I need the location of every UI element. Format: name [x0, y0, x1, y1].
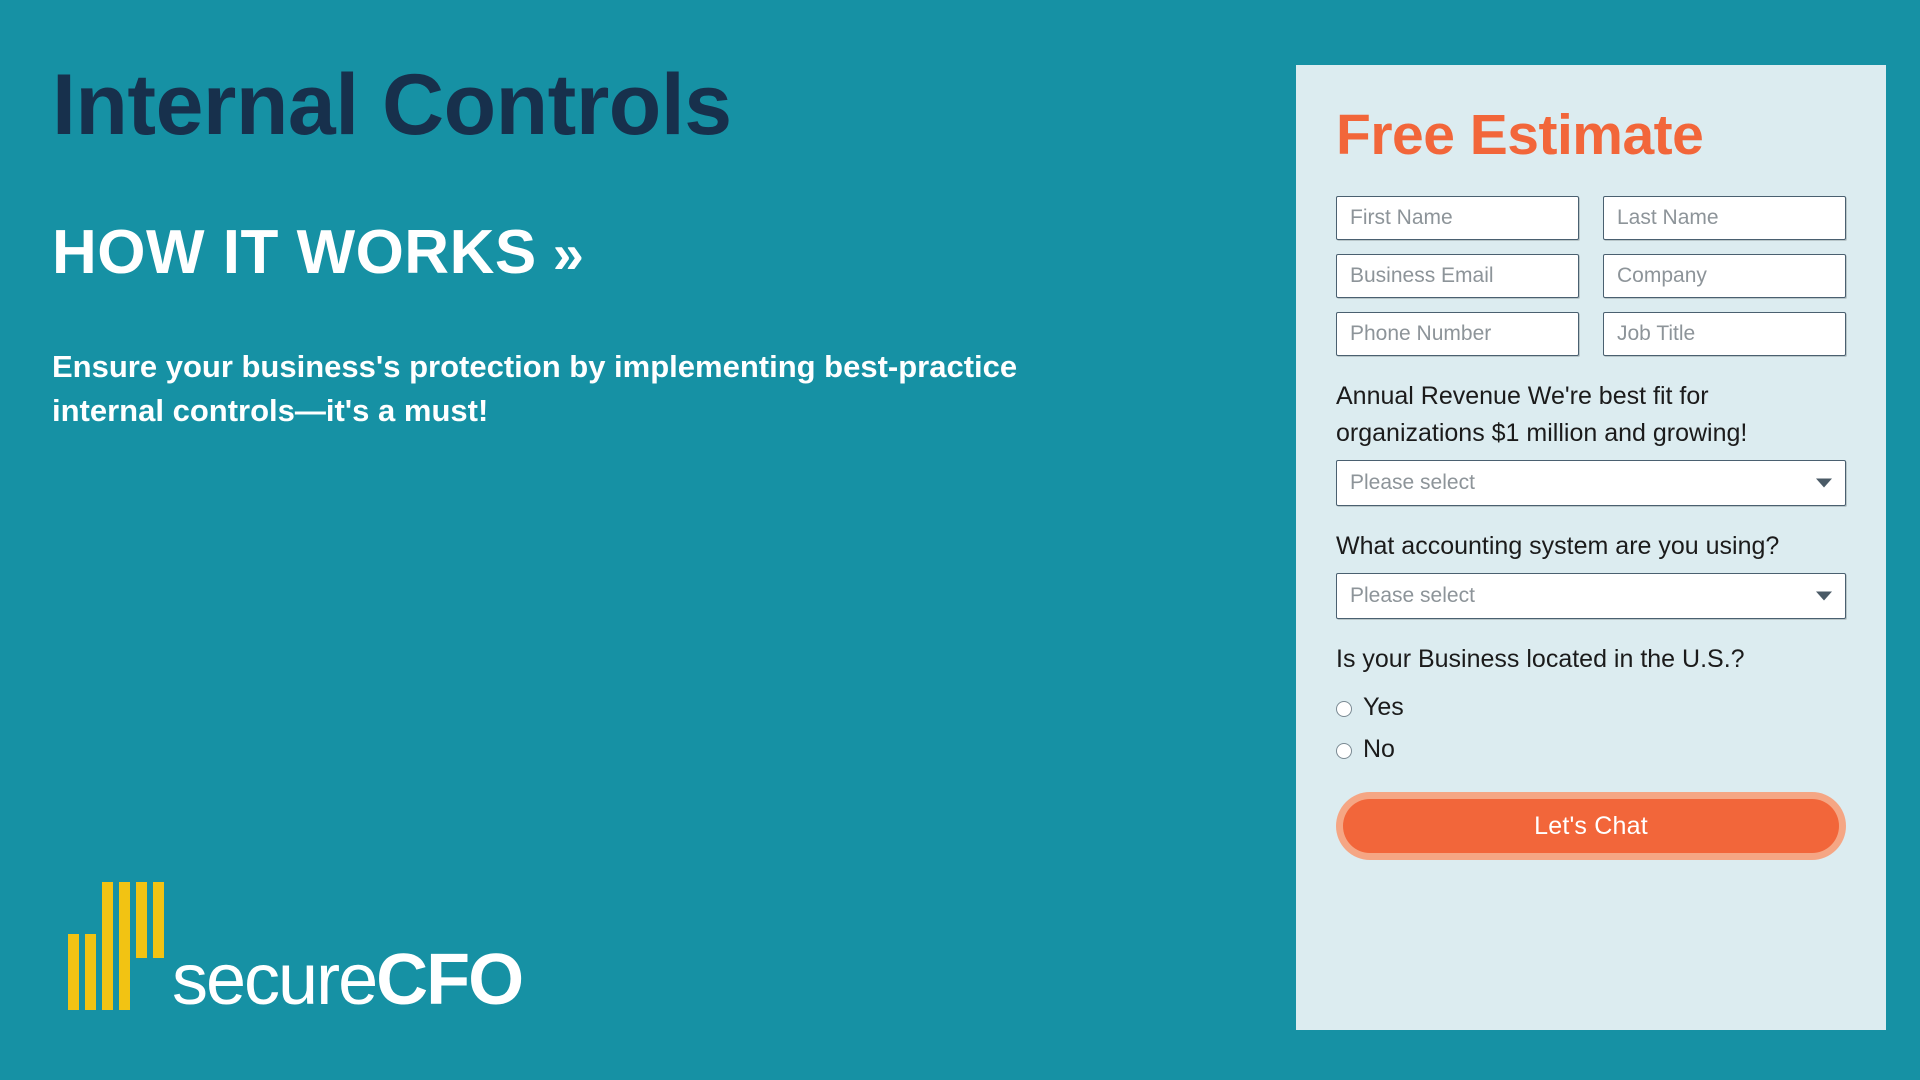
double-chevron-right-icon: »	[553, 226, 585, 282]
free-estimate-form-panel: Free Estimate Annual Revenue We're best …	[1296, 65, 1886, 1030]
business-location-label: Is your Business located in the U.S.?	[1336, 641, 1846, 678]
radio-label-yes: Yes	[1363, 695, 1404, 720]
last-name-input[interactable]	[1603, 196, 1846, 240]
annual-revenue-select[interactable]: Please select	[1336, 460, 1846, 506]
contact-fields-grid	[1336, 196, 1846, 356]
radio-button-yes[interactable]	[1336, 701, 1352, 717]
accounting-system-select-wrap: Please select	[1336, 573, 1846, 619]
bar-chart-mark-icon	[68, 882, 150, 1010]
radio-button-no[interactable]	[1336, 743, 1352, 759]
how-it-works-label: HOW IT WORKS	[52, 222, 537, 284]
accounting-system-label: What accounting system are you using?	[1336, 528, 1846, 565]
logo-word-cfo: CFO	[376, 940, 522, 1020]
logo-wordmark: secureCFO	[172, 944, 522, 1016]
submit-button-halo: Let's Chat	[1336, 792, 1846, 860]
radio-option-yes[interactable]: Yes	[1336, 695, 1846, 720]
lets-chat-submit-button[interactable]: Let's Chat	[1343, 799, 1839, 853]
hero-description: Ensure your business's protection by imp…	[52, 345, 1062, 433]
securecfo-logo[interactable]: secureCFO	[68, 880, 522, 1010]
annual-revenue-select-wrap: Please select	[1336, 460, 1846, 506]
phone-number-input[interactable]	[1336, 312, 1579, 356]
logo-word-secure: secure	[172, 940, 376, 1020]
accounting-system-select[interactable]: Please select	[1336, 573, 1846, 619]
annual-revenue-label: Annual Revenue We're best fit for organi…	[1336, 378, 1846, 452]
hero-section: Internal Controls HOW IT WORKS » Ensure …	[52, 0, 1052, 1080]
radio-label-no: No	[1363, 737, 1395, 762]
landing-page: Internal Controls HOW IT WORKS » Ensure …	[0, 0, 1920, 1080]
company-input[interactable]	[1603, 254, 1846, 298]
radio-option-no[interactable]: No	[1336, 737, 1846, 762]
business-email-input[interactable]	[1336, 254, 1579, 298]
form-title: Free Estimate	[1336, 107, 1846, 164]
page-title: Internal Controls	[52, 62, 732, 148]
how-it-works-heading[interactable]: HOW IT WORKS »	[52, 222, 584, 284]
first-name-input[interactable]	[1336, 196, 1579, 240]
job-title-input[interactable]	[1603, 312, 1846, 356]
